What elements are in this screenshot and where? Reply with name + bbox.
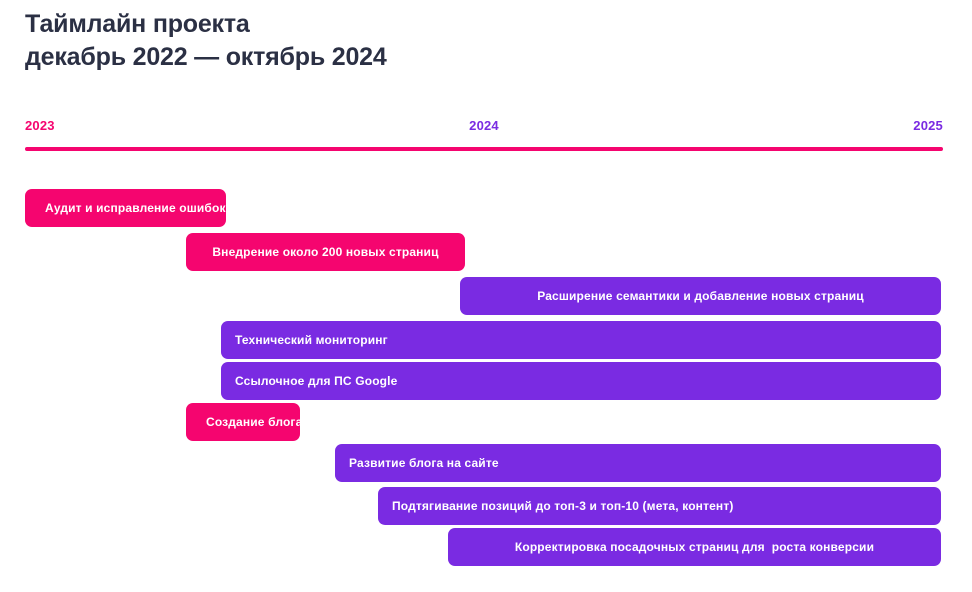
timeline-row: Внедрение около 200 новых страниц: [0, 233, 972, 271]
timeline-chart: Таймлайн проекта декабрь 2022 — октябрь …: [0, 0, 972, 592]
axis-tick-2023: 2023: [25, 118, 55, 133]
timeline-row: Ссылочное для ПС Google: [0, 362, 972, 400]
axis-tick-2024: 2024: [469, 118, 499, 133]
timeline-bar-label: Создание блога: [186, 415, 322, 429]
timeline-bar[interactable]: Корректировка посадочных страниц для рос…: [448, 528, 941, 566]
timeline-bars: Аудит и исправление ошибокВнедрение окол…: [0, 189, 972, 579]
timeline-row: Создание блога: [0, 403, 972, 441]
timeline-row: Расширение семантики и добавление новых …: [0, 277, 972, 315]
timeline-bar-label: Расширение семантики и добавление новых …: [517, 289, 884, 303]
timeline-bar[interactable]: Технический мониторинг: [221, 321, 941, 359]
timeline-bar-label: Корректировка посадочных страниц для рос…: [495, 540, 894, 554]
timeline-bar[interactable]: Внедрение около 200 новых страниц: [186, 233, 465, 271]
timeline-row: Развитие блога на сайте: [0, 444, 972, 482]
axis-tick-2025: 2025: [913, 118, 943, 133]
timeline-bar[interactable]: Создание блога: [186, 403, 300, 441]
timeline-row: Технический мониторинг: [0, 321, 972, 359]
title-line-1: Таймлайн проекта: [25, 8, 825, 41]
timeline-bar-label: Аудит и исправление ошибок: [25, 201, 246, 215]
page-title: Таймлайн проекта декабрь 2022 — октябрь …: [25, 8, 825, 74]
timeline-row: Корректировка посадочных страниц для рос…: [0, 528, 972, 566]
axis-line: [25, 147, 943, 151]
timeline-bar-label: Технический мониторинг: [221, 333, 402, 347]
axis-tick-labels: 202320242025: [25, 118, 943, 140]
timeline-bar-label: Подтягивание позиций до топ-3 и топ-10 (…: [378, 499, 748, 513]
timeline-bar[interactable]: Подтягивание позиций до топ-3 и топ-10 (…: [378, 487, 941, 525]
timeline-bar[interactable]: Аудит и исправление ошибок: [25, 189, 226, 227]
title-line-2: декабрь 2022 — октябрь 2024: [25, 41, 825, 74]
timeline-bar-label: Ссылочное для ПС Google: [221, 374, 411, 388]
timeline-row: Аудит и исправление ошибок: [0, 189, 972, 227]
timeline-bar-label: Развитие блога на сайте: [335, 456, 513, 470]
timeline-bar[interactable]: Расширение семантики и добавление новых …: [460, 277, 941, 315]
timeline-bar[interactable]: Ссылочное для ПС Google: [221, 362, 941, 400]
timeline-bar-label: Внедрение около 200 новых страниц: [192, 245, 458, 259]
timeline-row: Подтягивание позиций до топ-3 и топ-10 (…: [0, 487, 972, 525]
timeline-axis: 202320242025: [25, 118, 943, 158]
timeline-bar[interactable]: Развитие блога на сайте: [335, 444, 941, 482]
